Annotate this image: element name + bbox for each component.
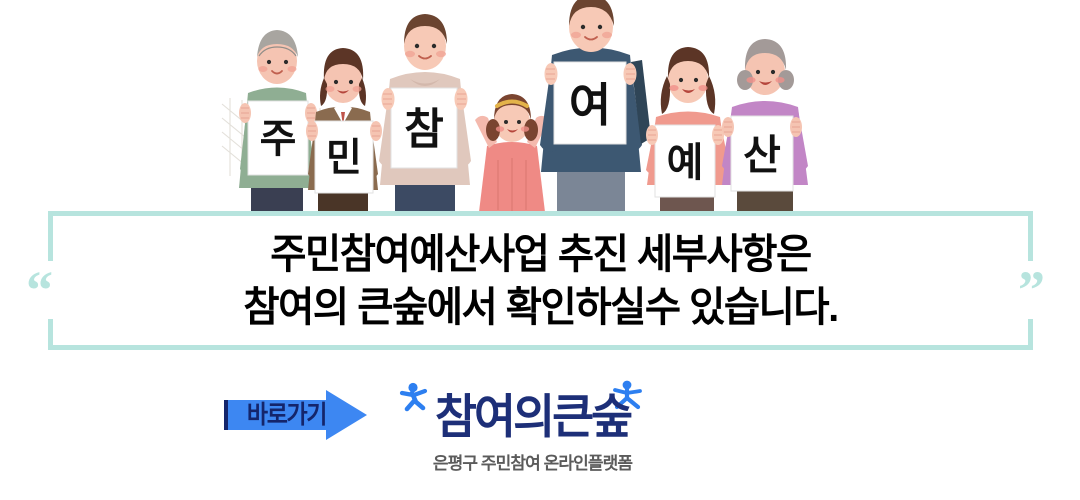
quote-text: 주민참여예산사업 추진 세부사항은 참여의 큰숲에서 확인하실수 있습니다. bbox=[48, 216, 1033, 345]
sign-letter-san: 산 bbox=[743, 132, 781, 178]
brand-logo-link[interactable]: 참여의큰숲 은평구 주민참여 온라인플랫폼 bbox=[390, 380, 675, 474]
brand-subtitle: 은평구 주민참여 온라인플랫폼 bbox=[390, 449, 675, 474]
sign-letter-cham: 참 bbox=[404, 106, 444, 154]
cta-row: 바로가기 참여의큰숲 bbox=[0, 380, 1080, 490]
goto-link-button[interactable] bbox=[224, 389, 369, 441]
arrow-right-icon[interactable] bbox=[224, 389, 369, 441]
sign-letter-min: 민 bbox=[326, 137, 362, 180]
sign-letter-ye: 예 bbox=[667, 141, 704, 185]
family-illustration: 주 bbox=[0, 0, 1080, 212]
brand-logo: 참여의큰숲 bbox=[390, 380, 675, 442]
poster-canvas: 주 bbox=[0, 0, 1080, 500]
sign-letter-ju: 주 bbox=[260, 117, 297, 161]
brand-wordmark: 참여의큰숲 bbox=[435, 392, 630, 442]
quote-line-2: 참여의 큰숲에서 확인하실수 있습니다. bbox=[243, 282, 837, 332]
sign-letter-yeo: 여 bbox=[569, 79, 611, 131]
quote-line-1: 주민참여예산사업 추진 세부사항은 bbox=[270, 229, 811, 279]
running-person-icon bbox=[399, 382, 431, 416]
family-illustration-svg: 주 bbox=[0, 0, 1080, 212]
